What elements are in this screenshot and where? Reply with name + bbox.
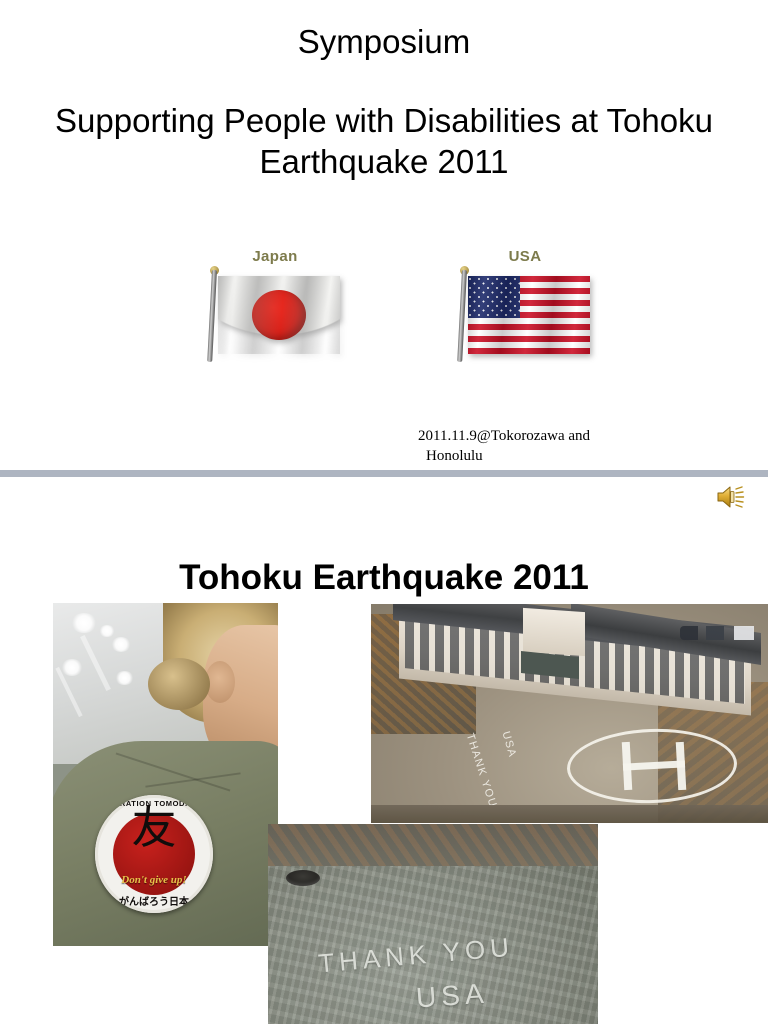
slide-tohoku-earthquake: Tohoku Earthquake 2011 OPERATION TOMODAC… [0,477,768,1024]
parked-cars [680,626,768,640]
speaker-sound-icon[interactable] [716,484,746,510]
ceiling-lamp-icon [71,613,97,633]
flagpole-icon [207,270,217,362]
usa-flag-icon [450,268,600,364]
slide-separator-bar [0,470,768,477]
subject-hair-bun [148,658,210,710]
slide-title-subtitle: Supporting People with Disabilities at T… [20,101,748,182]
photo-mud-thank-you-usa: THANK YOU USA [268,824,598,1024]
japan-flag-icon [200,268,350,364]
ceiling-lamp-icon [99,625,115,637]
symposium-date-venue: 2011.11.9@Tokorozawa and Honolulu [418,426,718,467]
patch-kanji-tomodachi: 友 [95,805,213,850]
japan-flag-sun-disc [252,290,306,340]
mud-debris-strip [268,824,598,866]
mud-message-line-2: USA [415,978,490,1015]
ceiling-lamp-icon [61,659,83,676]
usa-flag-stars [468,276,520,318]
ceiling-lamp-icon [111,637,131,652]
photo-soldier-operation-tomodachi: OPERATION TOMODACHI 友 Don't give up! がんば… [53,603,278,946]
slide-title: Symposium Supporting People with Disabil… [0,0,768,471]
japan-flag-cloth [218,276,340,354]
flagpole-icon [457,270,467,362]
slide-handout-page: Symposium Supporting People with Disabil… [0,0,768,1024]
venue-line-2: Honolulu [418,446,718,466]
slide-title-heading: Symposium [0,24,768,61]
flags-row: Japan USA [0,248,768,373]
flag-block-japan: Japan [190,248,360,364]
discarded-tire [286,870,320,886]
usa-flag-canton [468,276,520,318]
aerial-road [371,805,768,823]
flag-label-usa: USA [440,248,610,265]
ceiling-lamp-icon [115,671,134,685]
flag-block-usa: USA [440,248,610,364]
patch-slogan-text: Don't give up! [95,874,213,886]
school-entrance-tower [523,608,585,656]
patch-bottom-japanese-text: がんばろう日本 [95,893,213,908]
photo-aerial-tsunami-school: THANK YOU USA [371,604,768,823]
venue-line-1: 2011.11.9@Tokorozawa and [418,428,590,444]
operation-tomodachi-patch: OPERATION TOMODACHI 友 Don't give up! がんば… [95,795,213,913]
usa-flag-cloth [468,276,590,354]
slide-2-title: Tohoku Earthquake 2011 [0,558,768,598]
flag-label-japan: Japan [190,248,360,265]
